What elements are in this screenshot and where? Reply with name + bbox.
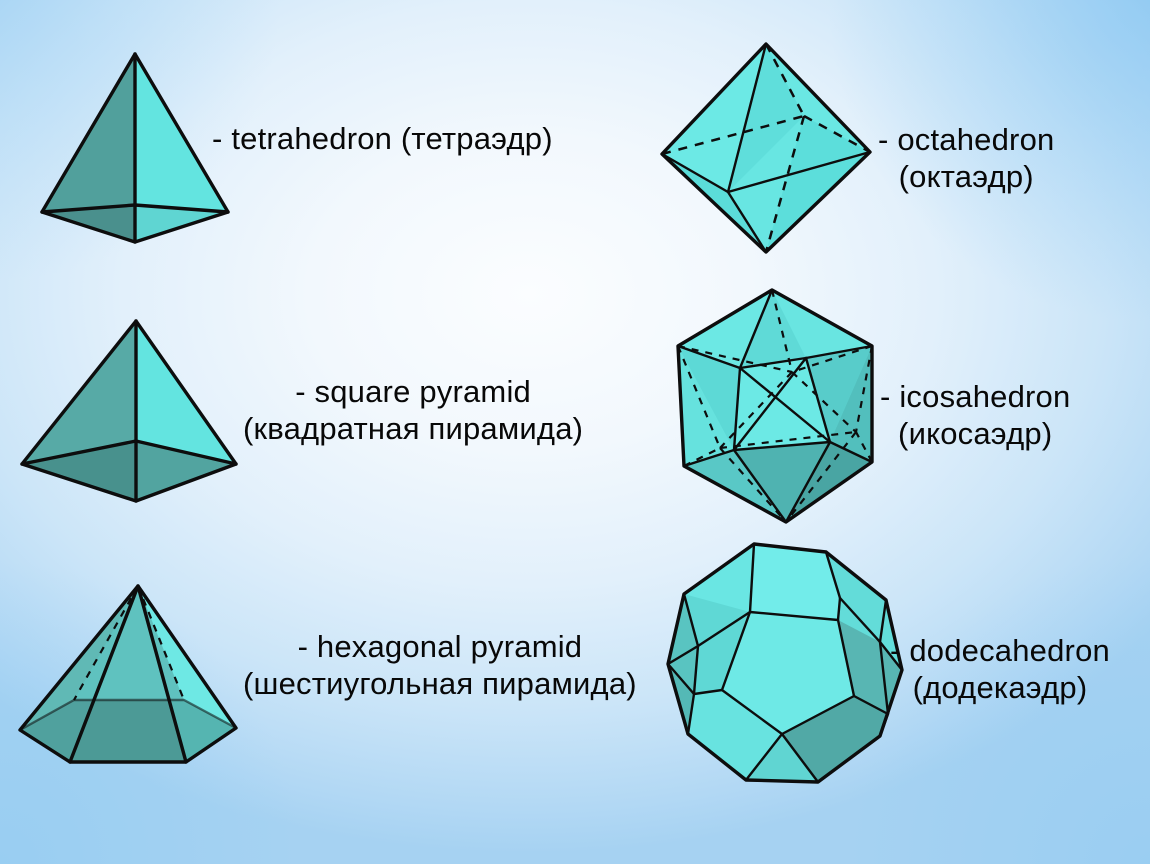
slide-canvas: - tetrahedron (тетраэдр) (0, 0, 1150, 864)
figure-hexagonal-pyramid (8, 572, 250, 794)
figure-tetrahedron (30, 42, 240, 247)
label-dodecahedron-line2: (додекаэдр) (890, 669, 1110, 706)
label-octahedron-line2: (октаэдр) (878, 158, 1054, 195)
label-hexagonal-pyramid-line2: (шестиугольная пирамида) (243, 665, 637, 702)
label-tetrahedron: - tetrahedron (тетраэдр) (212, 120, 553, 157)
label-square-pyramid-line2: (квадратная пирамида) (243, 410, 583, 447)
label-dodecahedron-line1: - dodecahedron (890, 632, 1110, 669)
label-tetrahedron-line1: - tetrahedron (тетраэдр) (212, 120, 553, 157)
label-icosahedron-line2: (икосаэдр) (880, 415, 1070, 452)
label-square-pyramid: - square pyramid (квадратная пирамида) (243, 373, 583, 447)
figure-square-pyramid (8, 296, 242, 508)
label-octahedron-line1: - octahedron (878, 121, 1054, 158)
label-hexagonal-pyramid-line1: - hexagonal pyramid (243, 628, 637, 665)
figure-icosahedron (660, 280, 902, 532)
figure-octahedron (648, 34, 884, 262)
label-square-pyramid-line1: - square pyramid (243, 373, 583, 410)
label-icosahedron-line1: - icosahedron (880, 378, 1070, 415)
label-hexagonal-pyramid: - hexagonal pyramid (шестиугольная пирам… (243, 628, 637, 702)
label-octahedron: - octahedron (октаэдр) (878, 121, 1054, 195)
figure-dodecahedron (658, 538, 912, 794)
label-dodecahedron: - dodecahedron (додекаэдр) (890, 632, 1110, 706)
label-icosahedron: - icosahedron (икосаэдр) (880, 378, 1070, 452)
